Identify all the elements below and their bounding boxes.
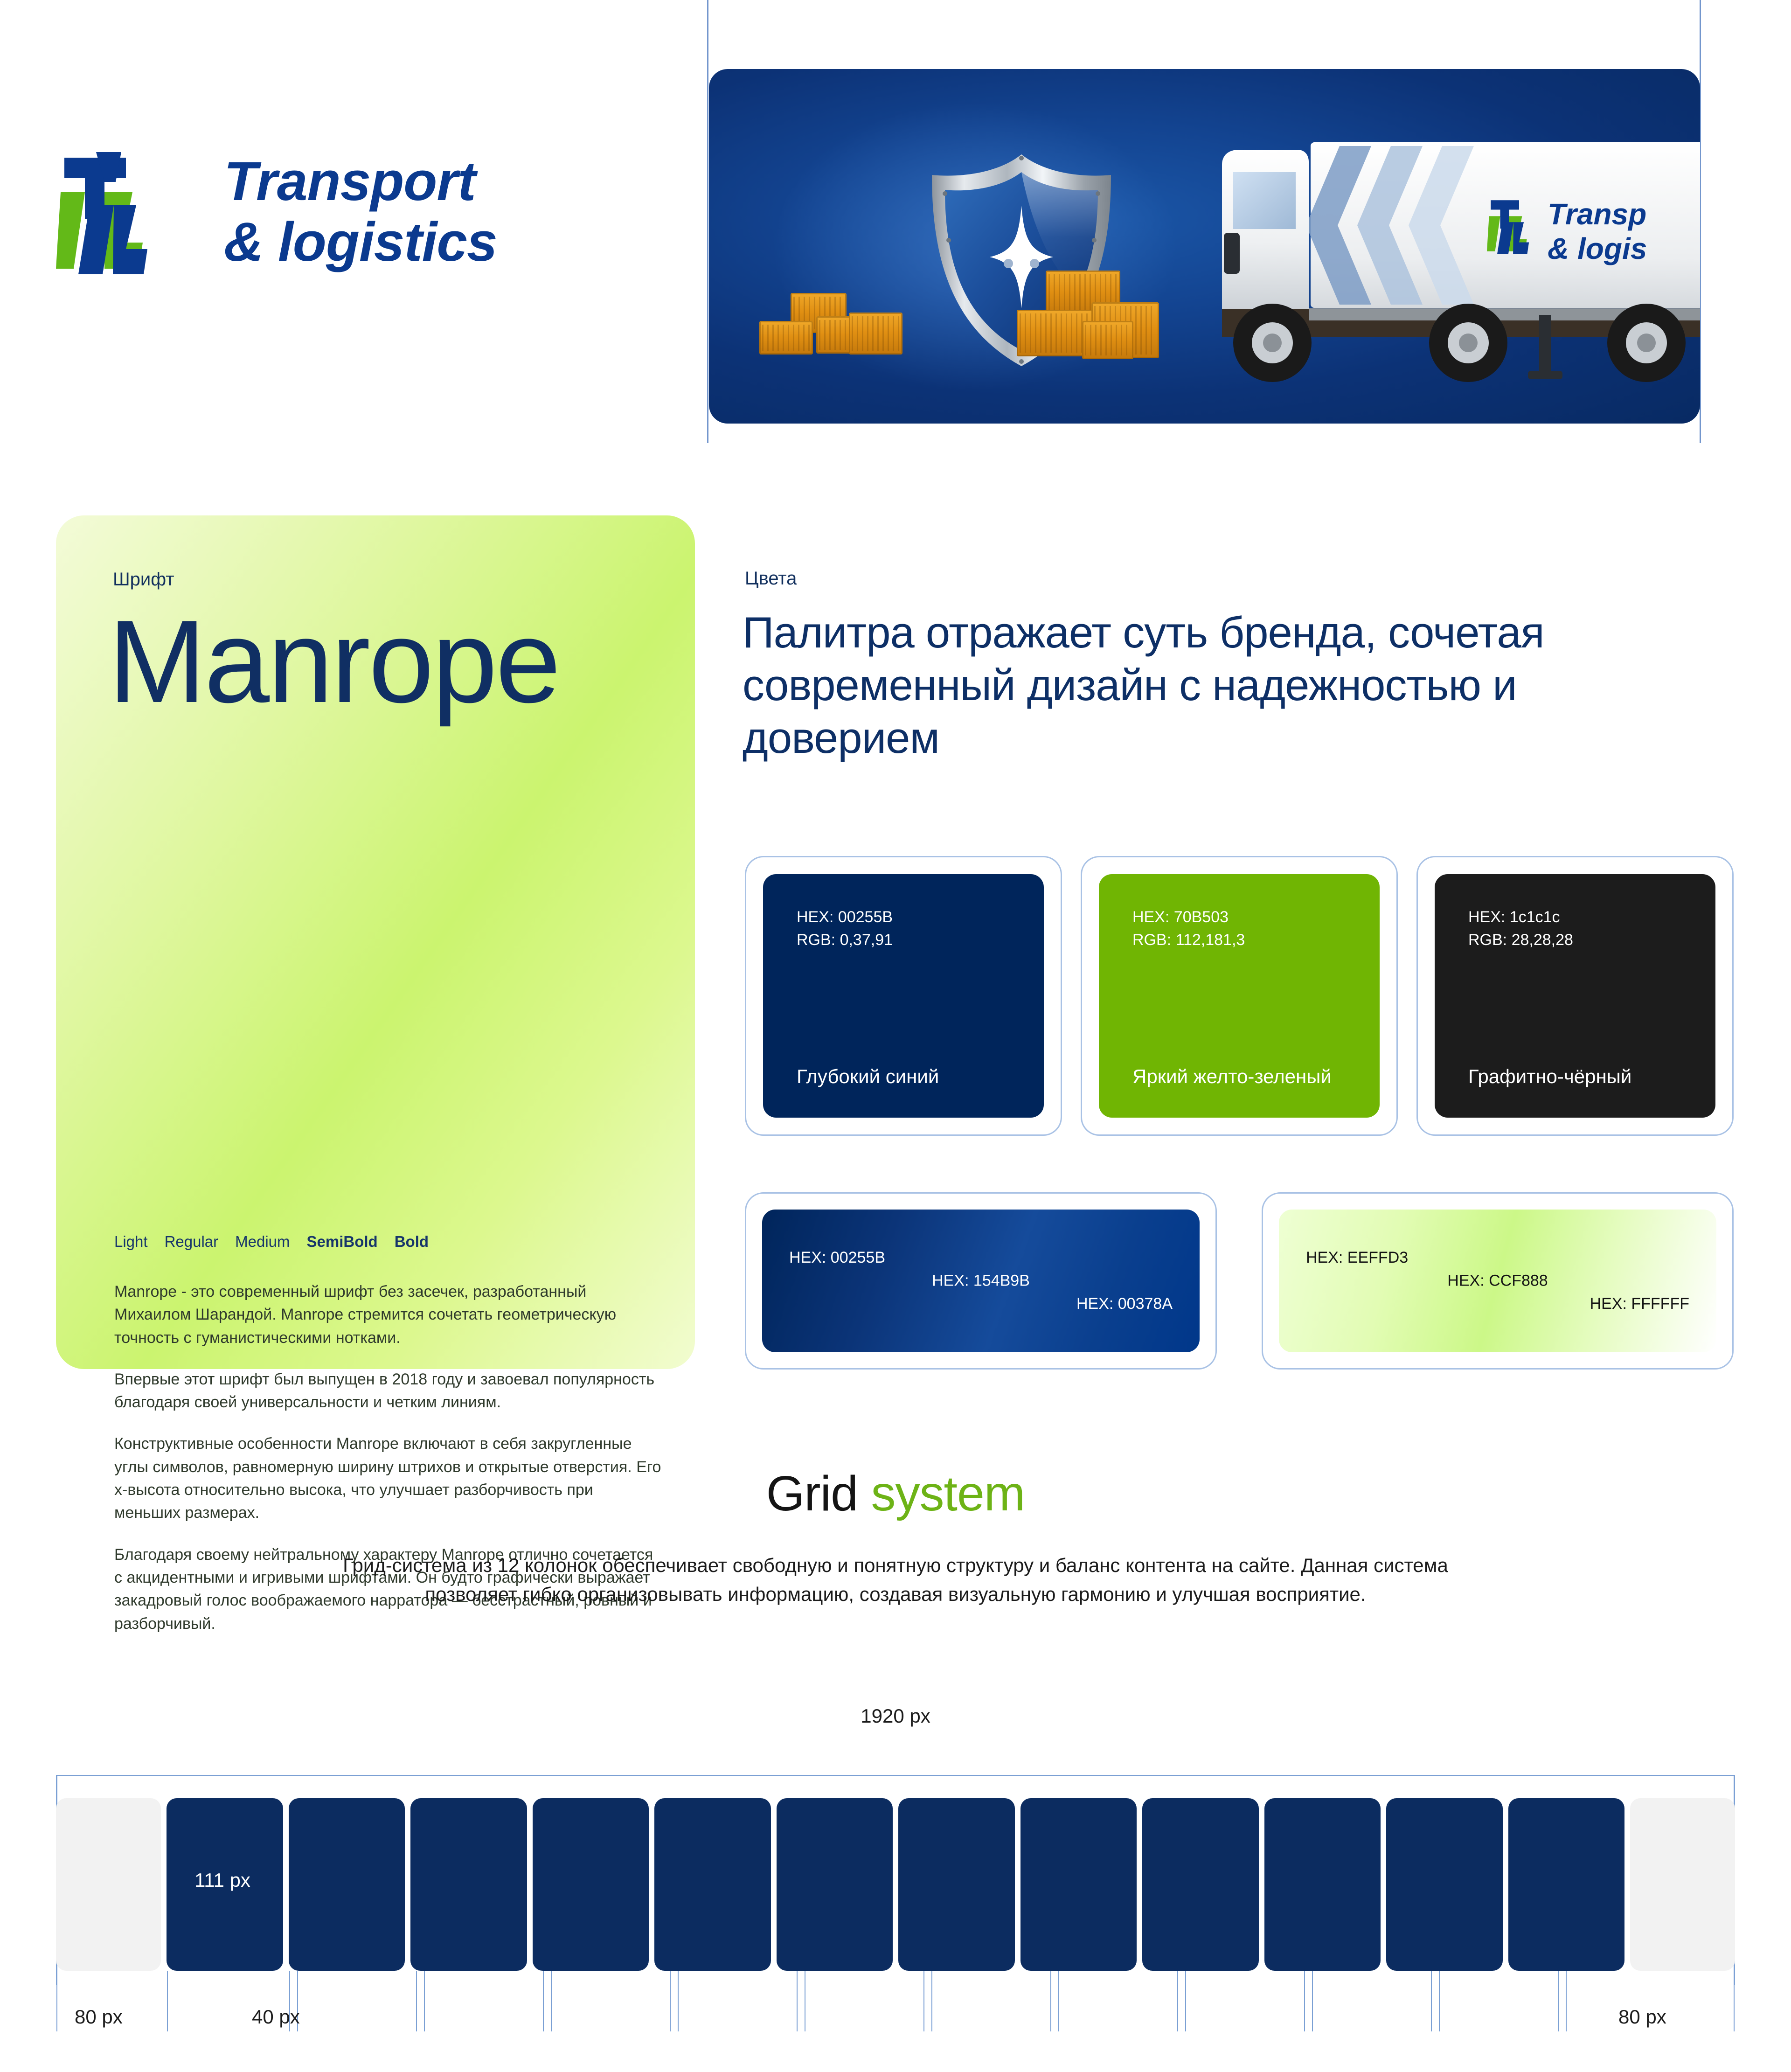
grid-column: [533, 1798, 649, 1971]
grid-tick: [1566, 1971, 1567, 2031]
itl-monogram-icon: [56, 149, 196, 275]
cargo-container: [759, 321, 813, 355]
grid-section-title: Grid system: [0, 1466, 1791, 1522]
color-rgb: RGB: 28,28,28: [1468, 929, 1573, 952]
grid-tick: [797, 1971, 798, 2031]
grid-tick: [1304, 1971, 1305, 2031]
cargo-container: [849, 313, 902, 355]
font-paragraph: Впервые этот шрифт был выпущен в 2018 го…: [114, 1368, 662, 1414]
color-swatch-card: HEX: 00255B RGB: 0,37,91 Глубокий синий: [745, 856, 1062, 1136]
grid-tick: [551, 1971, 552, 2031]
grid-column: [1020, 1798, 1137, 1971]
grid-column: [289, 1798, 405, 1971]
color-swatch-meta: HEX: 1c1c1c RGB: 28,28,28: [1468, 906, 1573, 952]
truck-logo-line2: & logis: [1548, 232, 1647, 265]
grid-tick: [670, 1971, 671, 2031]
grid-tick: [931, 1971, 932, 2031]
font-weight-regular: Regular: [165, 1233, 219, 1251]
color-hex: HEX: 00255B: [797, 906, 893, 929]
grid-column: [1264, 1798, 1381, 1971]
grid-column: [1142, 1798, 1259, 1971]
logo-wordmark-line2: & logistics: [224, 212, 497, 273]
grid-column: [898, 1798, 1015, 1971]
grid-tick: [1558, 1971, 1559, 2031]
gradient-stop-1: HEX: 154B9B: [932, 1272, 1030, 1290]
color-swatch-card: HEX: 1c1c1c RGB: 28,28,28 Графитно-чёрны…: [1416, 856, 1734, 1136]
font-weight-semibold: SemiBold: [307, 1233, 378, 1251]
colors-section-label: Цвета: [745, 568, 797, 589]
font-weight-medium: Medium: [235, 1233, 290, 1251]
grid-margin-left: [56, 1798, 161, 1971]
grid-column: [1508, 1798, 1625, 1971]
gradient-swatch-card: HEX: 00255B HEX: 154B9B HEX: 00378A: [745, 1192, 1217, 1370]
grid-tick: [1185, 1971, 1186, 2031]
guide-line-left: [707, 0, 708, 443]
font-paragraph: Manrope - это современный шрифт без засе…: [114, 1280, 662, 1349]
brand-guideline-page: Transport & logistics: [0, 0, 1791, 2072]
color-swatch-meta: HEX: 70B503 RGB: 112,181,3: [1132, 906, 1245, 952]
cargo-container: [1082, 321, 1133, 359]
grid-total-width-label: 1920 px: [0, 1705, 1791, 1727]
color-swatch-card: HEX: 70B503 RGB: 112,181,3 Яркий желто-з…: [1081, 856, 1398, 1136]
color-rgb: RGB: 112,181,3: [1132, 929, 1245, 952]
grid-column: [654, 1798, 771, 1971]
grid-tick: [416, 1971, 417, 2031]
color-name: Глубокий синий: [797, 1064, 939, 1089]
grid-margin-left-label: 80 px: [75, 2006, 123, 2028]
grid-tick: [1050, 1971, 1051, 2031]
grid-title-main: Grid: [766, 1466, 871, 1521]
grid-tick: [805, 1971, 805, 2031]
gradient-stop-2: HEX: FFFFFF: [1590, 1295, 1689, 1313]
color-name: Яркий желто-зеленый: [1132, 1064, 1332, 1089]
gradient-stop-2: HEX: 00378A: [1076, 1295, 1173, 1313]
grid-tick: [167, 1971, 168, 2031]
font-name: Manrope: [108, 603, 559, 721]
font-section-label: Шрифт: [113, 569, 174, 590]
gradient-stop-0: HEX: EEFFD3: [1306, 1249, 1408, 1267]
truck-logo-line1: Transp: [1548, 197, 1646, 231]
grid-tick: [1734, 1971, 1735, 2031]
color-swatch-fill: HEX: 00255B RGB: 0,37,91 Глубокий синий: [763, 874, 1044, 1118]
grid-column: [1386, 1798, 1503, 1971]
font-weight-bold: Bold: [395, 1233, 429, 1251]
color-hex: HEX: 1c1c1c: [1468, 906, 1573, 929]
font-card: Шрифт Manrope Light Regular Medium SemiB…: [56, 515, 695, 1369]
gradient-swatch-card: HEX: EEFFD3 HEX: CCF888 HEX: FFFFFF: [1262, 1192, 1734, 1370]
grid-tick: [543, 1971, 544, 2031]
color-hex: HEX: 70B503: [1132, 906, 1245, 929]
grid-tick: [1431, 1971, 1432, 2031]
logo-wordmark: Transport & logistics: [224, 152, 497, 273]
truck-illustration: Transp & logis: [1213, 113, 1700, 403]
hero-banner: Transp & logis: [709, 69, 1700, 424]
grid-tick: [56, 1971, 57, 2031]
gradient-stop-1: HEX: CCF888: [1447, 1272, 1548, 1290]
color-swatch-fill: HEX: 70B503 RGB: 112,181,3 Яркий желто-з…: [1099, 874, 1380, 1118]
font-weight-light: Light: [114, 1233, 148, 1251]
grid-columns: 111 px: [56, 1798, 1735, 1971]
grid-tick: [678, 1971, 679, 2031]
gradient-fill: HEX: EEFFD3 HEX: CCF888 HEX: FFFFFF: [1279, 1210, 1716, 1352]
color-rgb: RGB: 0,37,91: [797, 929, 893, 952]
grid-section-description: Грид-система из 12 колонок обеспечивает …: [308, 1551, 1483, 1609]
brand-logo: Transport & logistics: [56, 149, 497, 275]
grid-column: [777, 1798, 893, 1971]
grid-title-accent: system: [871, 1466, 1025, 1521]
grid-tick: [1177, 1971, 1178, 2031]
logo-wordmark-line1: Transport: [224, 152, 497, 212]
grid-margin-right-label: 80 px: [1618, 2006, 1666, 2028]
grid-tick: [923, 1971, 924, 2031]
colors-section-heading: Палитра отражает суть бренда, сочетая со…: [743, 606, 1722, 764]
color-swatch-fill: HEX: 1c1c1c RGB: 28,28,28 Графитно-чёрны…: [1435, 874, 1715, 1118]
grid-tick: [1312, 1971, 1313, 2031]
gradient-fill: HEX: 00255B HEX: 154B9B HEX: 00378A: [762, 1210, 1200, 1352]
grid-tick: [1439, 1971, 1440, 2031]
grid-margin-right: [1630, 1798, 1735, 1971]
grid-column-width-label: 111 px: [194, 1869, 250, 1891]
color-name: Графитно-чёрный: [1468, 1064, 1631, 1089]
grid-column: 111 px: [167, 1798, 283, 1971]
grid-gutter-label: 40 px: [252, 2006, 300, 2028]
grid-column: [410, 1798, 527, 1971]
gradient-stop-0: HEX: 00255B: [789, 1249, 885, 1267]
grid-tick: [424, 1971, 425, 2031]
font-weight-list: Light Regular Medium SemiBold Bold: [114, 1233, 429, 1251]
grid-tick: [1058, 1971, 1059, 2031]
color-swatch-meta: HEX: 00255B RGB: 0,37,91: [797, 906, 893, 952]
